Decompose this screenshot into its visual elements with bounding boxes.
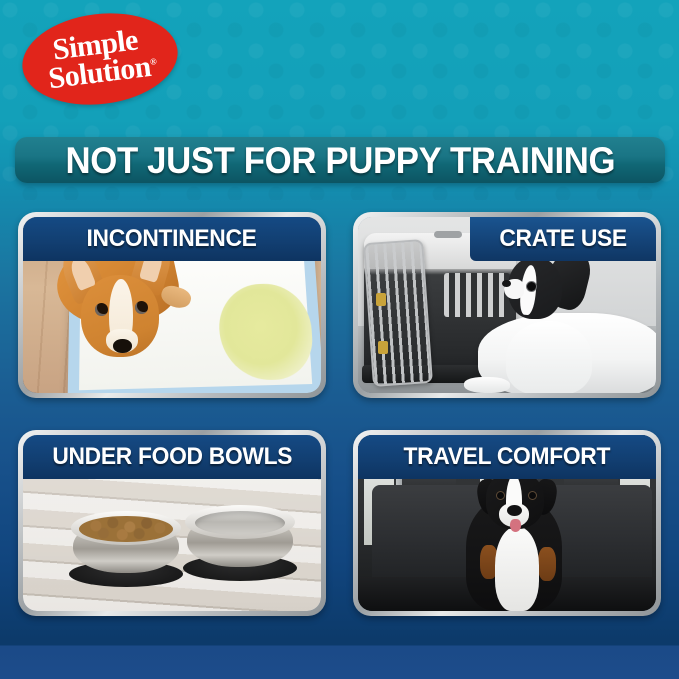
card-inner: INCONTINENCE — [23, 217, 321, 393]
bernese-chest — [495, 527, 539, 611]
card-inner: TRAVEL COMFORT — [358, 435, 656, 611]
corgi-eye-left — [95, 303, 108, 316]
logo-wordmark: Simple Solution® — [17, 5, 183, 113]
pet-crate-vents — [444, 273, 510, 317]
card-label-bar: INCONTINENCE — [23, 217, 321, 261]
headline-banner: NOT JUST FOR PUPPY TRAINING — [15, 137, 665, 183]
card-label-text: TRAVEL COMFORT — [404, 443, 611, 471]
card-label-text: INCONTINENCE — [87, 225, 257, 253]
pet-crate-handle — [434, 231, 462, 238]
papillon-nose — [502, 280, 511, 287]
feature-card-crate-use: CRATE USE — [353, 212, 661, 398]
bernese-eye-right — [528, 491, 537, 500]
feature-card-under-food-bowls: UNDER FOOD BOWLS — [18, 430, 326, 616]
water-bowl — [181, 503, 299, 581]
brand-logo: Simple Solution® — [22, 14, 178, 104]
corgi-nose — [113, 339, 132, 353]
headline-text: NOT JUST FOR PUPPY TRAINING — [65, 142, 615, 179]
water-surface — [195, 511, 285, 535]
card-label-text: CRATE USE — [499, 225, 626, 253]
food-bowl — [67, 509, 185, 587]
papillon-chest — [506, 321, 592, 393]
feature-card-travel-comfort: TRAVEL COMFORT — [353, 430, 661, 616]
bernese-nose — [507, 505, 522, 516]
pet-crate-latch-top — [376, 293, 386, 306]
corgi-eye-right — [135, 301, 148, 314]
card-label-bar: TRAVEL COMFORT — [358, 435, 656, 479]
card-inner: UNDER FOOD BOWLS — [23, 435, 321, 611]
pet-crate-latch-bottom — [378, 341, 388, 354]
dry-kibble — [79, 516, 173, 542]
bernese-tongue — [510, 519, 521, 532]
card-inner: CRATE USE — [358, 217, 656, 393]
pet-crate-wire-door — [363, 239, 433, 387]
papillon-eye — [526, 281, 537, 292]
product-feature-poster: Simple Solution® NOT JUST FOR PUPPY TRAI… — [0, 0, 679, 679]
bernese-eye-left — [496, 491, 505, 500]
card-label-bar: UNDER FOOD BOWLS — [23, 435, 321, 479]
feature-card-incontinence: INCONTINENCE — [18, 212, 326, 398]
card-label-bar: CRATE USE — [470, 217, 656, 261]
papillon-paw — [464, 377, 510, 393]
card-label-text: UNDER FOOD BOWLS — [52, 443, 292, 471]
registered-trademark-icon: ® — [149, 56, 156, 67]
bernese-tan-marking-right — [538, 547, 556, 581]
